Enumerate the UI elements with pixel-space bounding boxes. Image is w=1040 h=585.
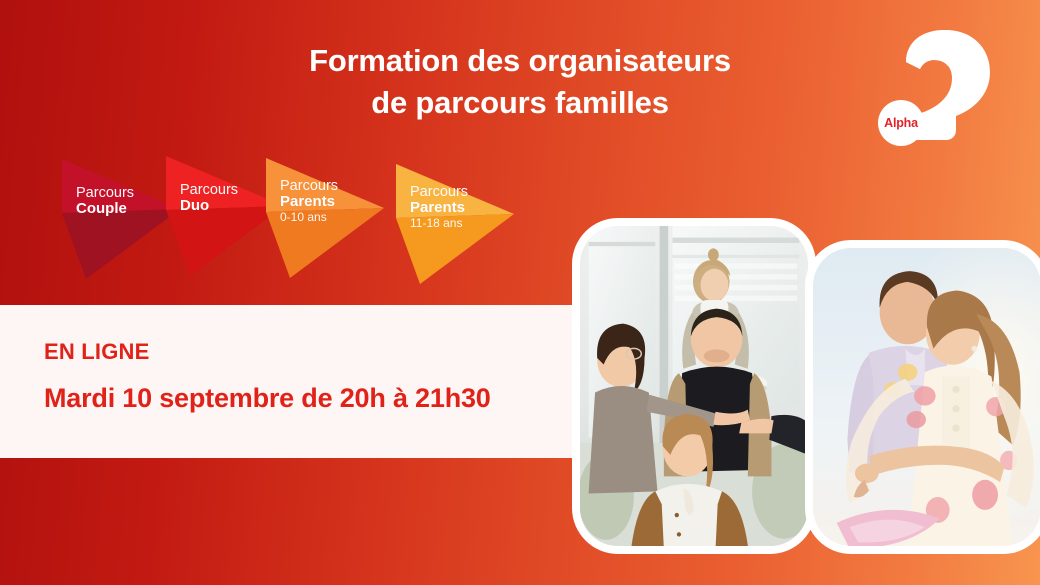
photo-couple [805, 240, 1040, 554]
arrow-line2: Parents [410, 200, 468, 217]
arrow-line3: 0-10 ans [280, 211, 338, 224]
alpha-badge-label: Alpha [884, 116, 918, 130]
arrow-label-parents-0-10: Parcours Parents 0-10 ans [280, 178, 338, 224]
arrow-line2: Duo [180, 198, 238, 215]
arrow-line2: Couple [76, 201, 134, 218]
photo-family-image [580, 226, 808, 546]
arrow-line1: Parcours [280, 178, 338, 194]
arrow-label-duo: Parcours Duo [180, 182, 238, 215]
arrow-line1: Parcours [180, 182, 238, 198]
arrow-line3: 11-18 ans [410, 217, 468, 230]
alpha-badge: Alpha [878, 100, 924, 146]
photo-couple-image [813, 248, 1040, 546]
arrow-line2: Parents [280, 194, 338, 211]
event-mode-label: EN LIGNE [44, 339, 150, 365]
arrow-line1: Parcours [76, 185, 134, 201]
alpha-logo: Alpha [872, 26, 1002, 146]
arrow-parcours-parents-11-18: Parcours Parents 11-18 ans [392, 156, 542, 291]
parcours-arrow-group: Parcours Couple Parcours Duo Parcours Pa… [0, 148, 560, 288]
arrow-label-parents-11-18: Parcours Parents 11-18 ans [410, 184, 468, 230]
photo-family [572, 218, 816, 554]
event-date-label: Mardi 10 septembre de 20h à 21h30 [44, 383, 491, 414]
info-band: EN LIGNE Mardi 10 septembre de 20h à 21h… [0, 305, 598, 458]
arrow-line1: Parcours [410, 184, 468, 200]
poster-canvas: Formation des organisateurs de parcours … [0, 0, 1040, 585]
arrow-label-couple: Parcours Couple [76, 185, 134, 218]
arrow-parcours-parents-0-10: Parcours Parents 0-10 ans [262, 150, 412, 285]
